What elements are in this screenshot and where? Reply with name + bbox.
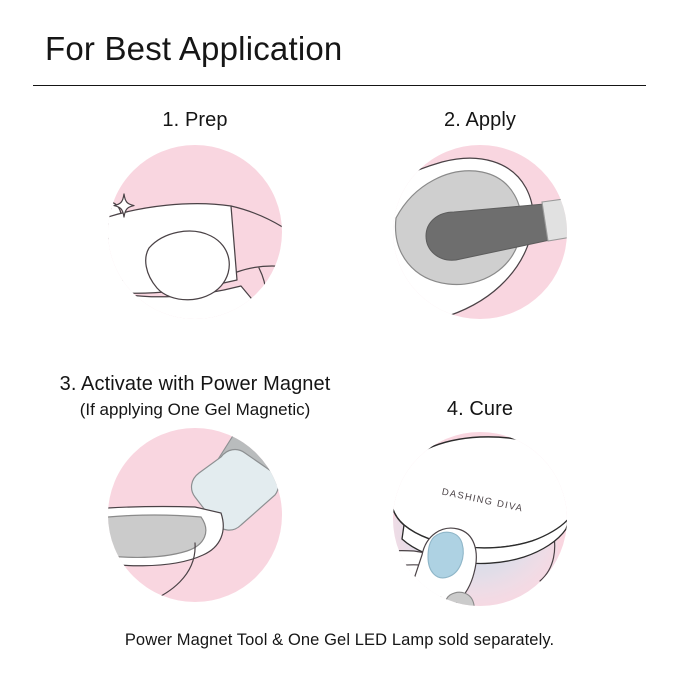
step-cure-label: 4. Cure xyxy=(330,397,630,423)
nail-shape xyxy=(444,592,475,616)
step-apply: 2. Apply xyxy=(330,108,630,325)
step-activate-sublabel: (If applying One Gel Magnetic) xyxy=(45,399,345,421)
step-prep-illustration xyxy=(45,140,345,325)
step-activate-label: 3. Activate with Power Magnet xyxy=(45,372,345,398)
step-apply-label: 2. Apply xyxy=(330,108,630,134)
step-prep: 1. Prep xyxy=(45,108,345,325)
step-cure-illustration: DASHING DIVA xyxy=(330,431,630,616)
applicator-handle xyxy=(542,197,584,241)
step-prep-label: 1. Prep xyxy=(45,108,345,134)
nail-shape xyxy=(65,515,206,557)
instruction-graphic: For Best Application 1. Prep xyxy=(0,0,679,679)
footer-note: Power Magnet Tool & One Gel LED Lamp sol… xyxy=(0,631,679,650)
step-activate-illustration xyxy=(45,427,345,612)
header-divider xyxy=(33,85,646,86)
page-title: For Best Application xyxy=(45,30,343,68)
step-apply-illustration xyxy=(330,140,630,325)
step-activate: 3. Activate with Power Magnet (If applyi… xyxy=(45,372,345,612)
step-cure: 4. Cure xyxy=(330,372,630,616)
